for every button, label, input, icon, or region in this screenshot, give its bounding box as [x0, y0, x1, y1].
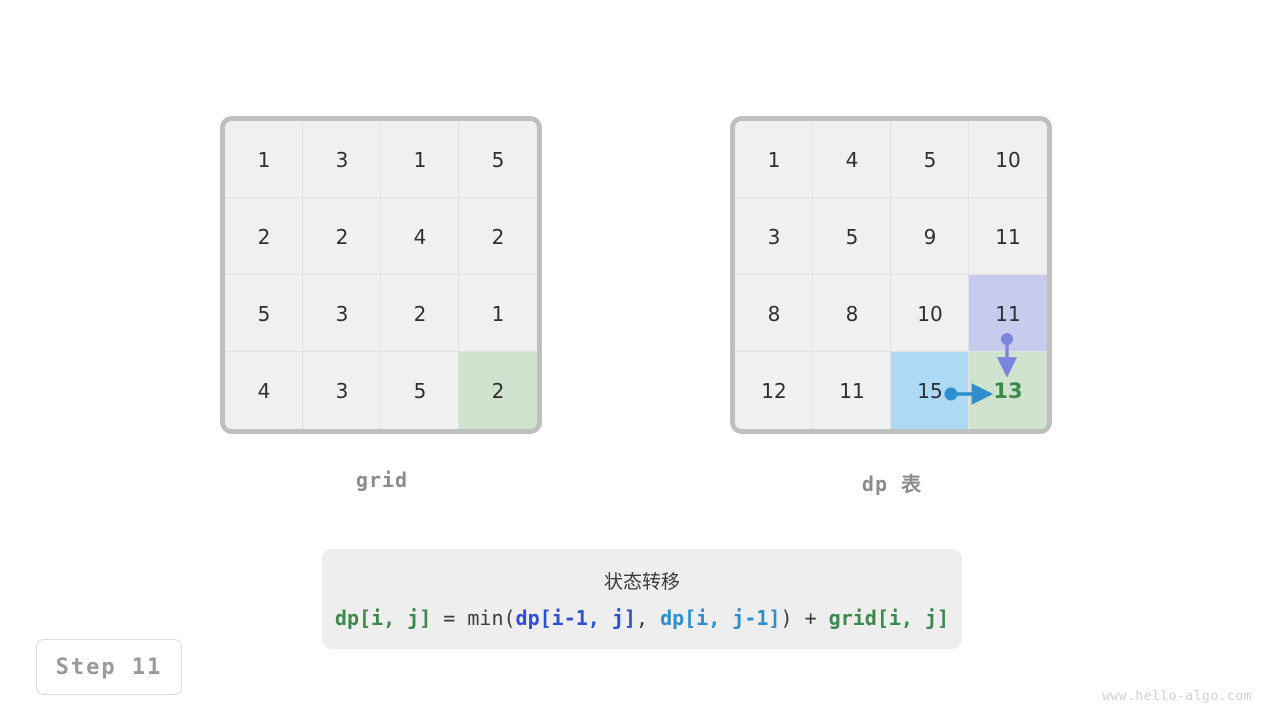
grid-caption: grid — [222, 468, 542, 492]
dp-cell-1-2: 9 — [891, 198, 969, 275]
expression-part-0: dp[i, j] — [335, 606, 431, 630]
dp-cell-2-1: 8 — [813, 275, 891, 352]
step-badge-label: Step 11 — [56, 655, 163, 680]
dp-cell-value: 11 — [839, 379, 864, 403]
grid-cell-value: 1 — [258, 148, 271, 172]
dp-cell-value: 3 — [768, 225, 781, 249]
dp-cell-value: 4 — [846, 148, 859, 172]
dp-cell-value: 10 — [995, 148, 1020, 172]
dp-cell-3-0: 12 — [735, 352, 813, 429]
dp-cell-3-3: 13 — [969, 352, 1047, 429]
grid-caption-label: grid — [356, 468, 408, 492]
grid-cell-value: 4 — [414, 225, 427, 249]
grid-cell-3-1: 3 — [303, 352, 381, 429]
grid-cell-3-2: 5 — [381, 352, 459, 429]
dp-cell-value: 12 — [761, 379, 786, 403]
grid-table: 1315224253214352 — [220, 116, 542, 434]
dp-cell-0-2: 5 — [891, 121, 969, 198]
dp-cell-value: 9 — [924, 225, 937, 249]
grid-cell-value: 2 — [492, 225, 505, 249]
grid-matrix: 1315224253214352 — [220, 116, 542, 434]
dp-cell-0-1: 4 — [813, 121, 891, 198]
state-transition-title: 状态转移 — [322, 567, 962, 594]
grid-cell-value: 5 — [492, 148, 505, 172]
expression-part-2: dp[i-1, j] — [516, 606, 636, 630]
dp-cell-value: 1 — [768, 148, 781, 172]
state-transition-expression: dp[i, j] = min(dp[i-1, j], dp[i, j-1]) +… — [322, 606, 962, 630]
grid-cell-1-3: 2 — [459, 198, 537, 275]
grid-cell-2-3: 1 — [459, 275, 537, 352]
expression-part-1: = min( — [431, 606, 515, 630]
dp-cell-1-3: 11 — [969, 198, 1047, 275]
dp-cell-3-1: 11 — [813, 352, 891, 429]
grid-cell-0-0: 1 — [225, 121, 303, 198]
step-badge: Step 11 — [36, 639, 182, 695]
grid-cell-3-0: 4 — [225, 352, 303, 429]
dp-cell-value: 10 — [917, 302, 942, 326]
dp-cell-2-0: 8 — [735, 275, 813, 352]
dp-cell-3-2: 15 — [891, 352, 969, 429]
grid-cell-2-1: 3 — [303, 275, 381, 352]
expression-part-3: , — [636, 606, 660, 630]
grid-cell-0-1: 3 — [303, 121, 381, 198]
dp-cell-value: 13 — [993, 379, 1022, 403]
dp-table: 145103591188101112111513 — [730, 116, 1052, 434]
grid-cell-value: 3 — [336, 148, 349, 172]
dp-cell-value: 5 — [846, 225, 859, 249]
grid-cell-value: 5 — [414, 379, 427, 403]
grid-cell-value: 1 — [414, 148, 427, 172]
grid-cell-0-3: 5 — [459, 121, 537, 198]
grid-cell-value: 1 — [492, 302, 505, 326]
dp-caption: dp 表 — [732, 468, 1052, 497]
dp-cell-2-2: 10 — [891, 275, 969, 352]
grid-cell-value: 2 — [336, 225, 349, 249]
dp-cell-value: 5 — [924, 148, 937, 172]
grid-cell-1-1: 2 — [303, 198, 381, 275]
state-transition-panel: 状态转移 dp[i, j] = min(dp[i-1, j], dp[i, j-… — [322, 549, 962, 649]
dp-cell-1-0: 3 — [735, 198, 813, 275]
dp-cell-value: 11 — [995, 225, 1020, 249]
grid-cell-value: 2 — [414, 302, 427, 326]
dp-caption-text: 表 — [901, 472, 922, 496]
grid-cell-value: 5 — [258, 302, 271, 326]
dp-matrix: 145103591188101112111513 — [730, 116, 1052, 434]
grid-cell-value: 2 — [258, 225, 271, 249]
dp-cell-value: 15 — [917, 379, 942, 403]
dp-cell-value: 11 — [995, 302, 1020, 326]
dp-cell-value: 8 — [846, 302, 859, 326]
dp-cell-0-0: 1 — [735, 121, 813, 198]
dp-cell-0-3: 10 — [969, 121, 1047, 198]
dp-cell-value: 8 — [768, 302, 781, 326]
grid-cell-3-3: 2 — [459, 352, 537, 429]
dp-cell-1-1: 5 — [813, 198, 891, 275]
grid-cell-value: 4 — [258, 379, 271, 403]
grid-cell-1-2: 4 — [381, 198, 459, 275]
expression-part-5: ) + — [780, 606, 828, 630]
grid-cell-1-0: 2 — [225, 198, 303, 275]
watermark: www.hello-algo.com — [1102, 689, 1252, 704]
grid-cell-2-0: 5 — [225, 275, 303, 352]
expression-part-6: grid[i, j] — [829, 606, 949, 630]
grid-cell-value: 3 — [336, 302, 349, 326]
grid-cell-2-2: 2 — [381, 275, 459, 352]
grid-cell-value: 3 — [336, 379, 349, 403]
grid-cell-0-2: 1 — [381, 121, 459, 198]
dp-caption-code: dp — [862, 472, 888, 496]
dp-cell-2-3: 11 — [969, 275, 1047, 352]
grid-cell-value: 2 — [492, 379, 505, 403]
expression-part-4: dp[i, j-1] — [660, 606, 780, 630]
